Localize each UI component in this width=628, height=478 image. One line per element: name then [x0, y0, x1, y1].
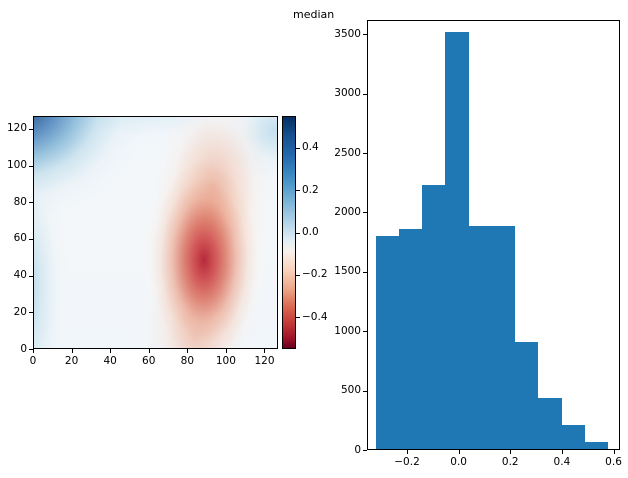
colorbar-tick-mark	[296, 233, 300, 234]
heatmap-x-tick-label: 120	[244, 356, 284, 367]
histogram-x-tick-label: 0.6	[592, 457, 628, 468]
histogram-y-tick-label: 2000	[319, 207, 361, 218]
histogram-y-tick-label: 0	[319, 445, 361, 456]
heatmap-x-tick-label: 80	[167, 356, 207, 367]
heatmap-y-tick-mark	[29, 239, 33, 240]
histogram-axes[interactable]	[367, 20, 620, 450]
histogram-y-tick-mark	[363, 34, 367, 35]
heatmap-image	[34, 117, 277, 348]
histogram-y-tick-label: 500	[319, 385, 361, 396]
histogram-y-tick-label: 3500	[319, 29, 361, 40]
histogram-bar	[422, 185, 445, 449]
colorbar-tick-label: 0.4	[302, 142, 319, 153]
heatmap-y-tick-mark	[29, 349, 33, 350]
heatmap-x-tick-mark	[149, 349, 150, 353]
colorbar-tick-label: −0.4	[302, 312, 328, 323]
histogram-x-tick-label: 0.0	[437, 457, 481, 468]
histogram-bar	[515, 342, 538, 449]
colorbar-axes[interactable]	[282, 116, 296, 349]
heatmap-x-tick-label: 60	[129, 356, 169, 367]
histogram-y-tick-mark	[363, 331, 367, 332]
heatmap-y-tick-mark	[29, 276, 33, 277]
heatmap-axes[interactable]	[33, 116, 278, 349]
histogram-x-tick-mark	[459, 450, 460, 454]
histogram-bar	[376, 236, 399, 449]
heatmap-x-tick-mark	[264, 349, 265, 353]
heatmap-y-tick-label: 100	[0, 160, 27, 171]
histogram-bar-group	[368, 21, 619, 449]
heatmap-y-tick-label: 0	[0, 344, 27, 355]
colorbar-tick-label: 0.0	[302, 227, 319, 238]
histogram-x-tick-label: 0.2	[488, 457, 532, 468]
histogram-bar	[492, 226, 515, 449]
histogram-y-tick-label: 2500	[319, 148, 361, 159]
histogram-y-tick-mark	[363, 450, 367, 451]
histogram-bar	[469, 226, 492, 449]
heatmap-x-tick-mark	[110, 349, 111, 353]
histogram-y-tick-label: 1000	[319, 326, 361, 337]
heatmap-x-tick-mark	[72, 349, 73, 353]
heatmap-y-tick-mark	[29, 202, 33, 203]
histogram-y-tick-mark	[363, 94, 367, 95]
figure-canvas: 020406080100120 020406080100120 0.40.20.…	[0, 0, 628, 478]
histogram-x-tick-label: 0.4	[540, 457, 584, 468]
histogram-bar	[538, 398, 561, 449]
histogram-title: median	[293, 8, 334, 21]
heatmap-y-tick-mark	[29, 312, 33, 313]
heatmap-y-tick-label: 40	[0, 270, 27, 281]
histogram-x-tick-mark	[614, 450, 615, 454]
histogram-x-tick-mark	[510, 450, 511, 454]
histogram-bar	[399, 229, 422, 449]
heatmap-y-tick-label: 80	[0, 197, 27, 208]
histogram-x-tick-mark	[407, 450, 408, 454]
heatmap-x-tick-label: 20	[52, 356, 92, 367]
colorbar-tick-mark	[296, 317, 300, 318]
histogram-y-tick-mark	[363, 391, 367, 392]
heatmap-y-tick-label: 20	[0, 307, 27, 318]
histogram-bar	[445, 32, 468, 449]
heatmap-y-tick-label: 120	[0, 123, 27, 134]
heatmap-x-tick-label: 100	[206, 356, 246, 367]
histogram-y-tick-mark	[363, 212, 367, 213]
histogram-y-tick-label: 3000	[319, 88, 361, 99]
heatmap-y-tick-label: 60	[0, 233, 27, 244]
histogram-y-tick-mark	[363, 153, 367, 154]
heatmap-x-tick-mark	[187, 349, 188, 353]
heatmap-x-tick-label: 40	[90, 356, 130, 367]
colorbar-tick-mark	[296, 148, 300, 149]
colorbar-tick-mark	[296, 275, 300, 276]
histogram-y-tick-label: 1500	[319, 266, 361, 277]
histogram-bar	[585, 442, 608, 449]
heatmap-y-tick-mark	[29, 166, 33, 167]
histogram-y-tick-mark	[363, 272, 367, 273]
heatmap-x-tick-mark	[226, 349, 227, 353]
heatmap-x-tick-label: 0	[13, 356, 53, 367]
histogram-x-tick-mark	[562, 450, 563, 454]
histogram-bar	[562, 425, 585, 449]
heatmap-x-tick-mark	[33, 349, 34, 353]
colorbar-tick-mark	[296, 190, 300, 191]
heatmap-y-tick-mark	[29, 129, 33, 130]
colorbar-gradient	[283, 117, 295, 348]
histogram-x-tick-label: −0.2	[385, 457, 429, 468]
colorbar-tick-label: 0.2	[302, 185, 319, 196]
